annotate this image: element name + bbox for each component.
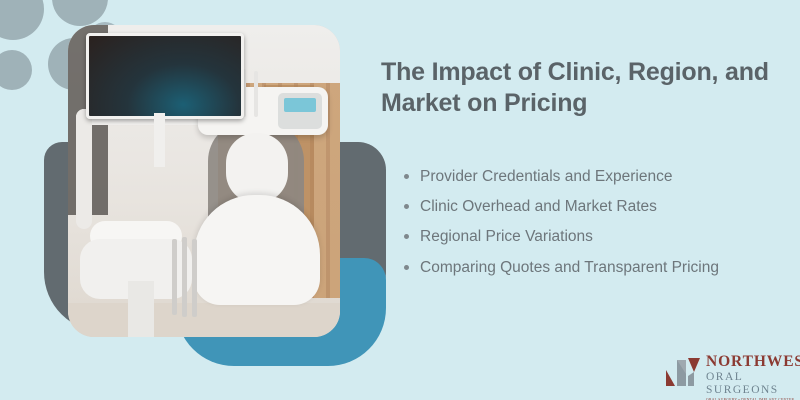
list-item: Provider Credentials and Experience — [398, 162, 793, 192]
photo-instrument — [172, 239, 177, 315]
clinic-photo — [68, 25, 340, 337]
page-title: The Impact of Clinic, Region, and Market… — [381, 57, 781, 118]
bullet-icon — [404, 204, 409, 209]
list-item-label: Provider Credentials and Experience — [420, 168, 672, 185]
list-item: Regional Price Variations — [398, 222, 793, 252]
bullet-icon — [404, 265, 409, 270]
list-item-label: Clinic Overhead and Market Rates — [420, 198, 657, 215]
photo-monitor-stem — [154, 113, 165, 167]
list-item-label: Comparing Quotes and Transparent Pricing — [420, 259, 719, 276]
photo-chair-seat — [194, 195, 320, 305]
bullet-icon — [404, 234, 409, 239]
photo-headrest — [226, 133, 288, 203]
photo-instrument — [192, 239, 197, 317]
logo-name-primary: NORTHWEST — [706, 354, 798, 371]
photo-chair-post — [128, 281, 154, 337]
photo-hose — [254, 71, 258, 117]
brand-logo[interactable]: NORTHWEST ORAL SURGEONS ORAL SURGERY • D… — [664, 354, 796, 396]
photo-floor — [68, 303, 340, 337]
circle-icon — [0, 50, 32, 90]
slide-canvas: The Impact of Clinic, Region, and Market… — [0, 0, 800, 400]
photo-control-panel — [278, 93, 322, 129]
logo-n-mark-icon — [664, 356, 704, 388]
logo-name-secondary: ORAL SURGEONS — [706, 371, 798, 398]
list-item: Clinic Overhead and Market Rates — [398, 192, 793, 222]
bullet-icon — [404, 174, 409, 179]
list-item-label: Regional Price Variations — [420, 228, 593, 245]
circle-icon — [0, 0, 44, 40]
photo-monitor — [86, 33, 244, 119]
list-item: Comparing Quotes and Transparent Pricing — [398, 253, 793, 283]
feature-list: Provider Credentials and Experience Clin… — [398, 162, 793, 283]
photo-support-column — [76, 109, 92, 229]
photo-instrument — [182, 237, 187, 317]
logo-wordmark: NORTHWEST ORAL SURGEONS ORAL SURGERY • D… — [706, 354, 798, 400]
